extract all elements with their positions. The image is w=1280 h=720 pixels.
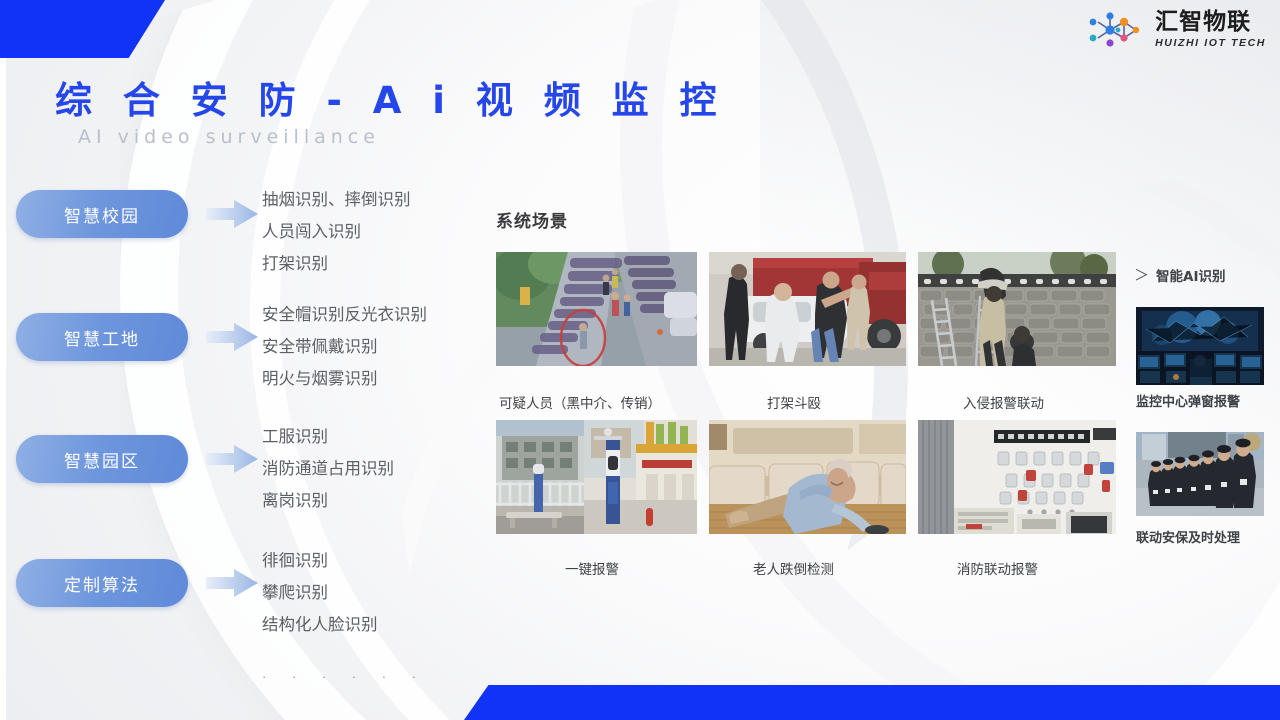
category-pill-smart-construction[interactable]: 智慧工地 (16, 313, 188, 361)
scene-caption: 入侵报警联动 (963, 392, 1044, 412)
category-item: 安全带佩戴识别 (262, 331, 427, 363)
category-item: 工服识别 (262, 421, 394, 453)
scene-caption: 一键报警 (565, 558, 619, 578)
monitoring-center-screens-photo (1136, 307, 1264, 385)
stone-wall-ladder-climb-photo (918, 252, 1116, 366)
scene-thumb-one-key-alarm[interactable] (496, 420, 697, 534)
category-pill-label: 智慧工地 (64, 325, 140, 350)
category-items-4: 徘徊识别 攀爬识别 结构化人脸识别 (262, 545, 378, 642)
page-title: 综 合 安 防 - A i 视 频 监 控 (55, 70, 726, 124)
category-items-1: 抽烟识别、摔倒识别 人员闯入识别 打架识别 (262, 184, 411, 281)
arrow-right-icon (206, 322, 258, 352)
emergency-call-post-photo (496, 420, 697, 534)
sidebar-heading-label: 智能AI识别 (1156, 265, 1225, 285)
scene-caption: 消防联动报警 (957, 558, 1038, 578)
fire-control-panel-photo (918, 420, 1116, 534)
category-items-3: 工服识别 消防通道占用识别 离岗识别 (262, 421, 394, 518)
sidebar-caption: 联动安保及时处理 (1136, 527, 1240, 546)
category-pill-smart-park[interactable]: 智慧园区 (16, 435, 188, 483)
corner-accent-top-left (0, 0, 165, 58)
chevron-right-icon: ＞ (1134, 264, 1149, 285)
scenes-section-title: 系统场景 (496, 207, 568, 232)
category-items-2: 安全帽识别反光衣识别 安全带佩戴识别 明火与烟雾识别 (262, 299, 427, 396)
sidebar-thumb-security-team[interactable] (1136, 432, 1264, 516)
scene-thumb-suspicious-person[interactable] (496, 252, 697, 366)
category-pill-label: 定制算法 (64, 571, 140, 596)
category-item: 消防通道占用识别 (262, 453, 394, 485)
bottom-accent-bar (464, 685, 1280, 720)
sidebar-caption: 监控中心弹窗报警 (1136, 391, 1240, 410)
page-subtitle: AI video surveillance (78, 126, 380, 148)
category-item: 打架识别 (262, 248, 411, 280)
street-fight-red-truck-photo (709, 252, 906, 366)
category-item: 明火与烟雾识别 (262, 363, 427, 395)
category-pill-label: 智慧园区 (64, 447, 140, 472)
street-motorbikes-crowd-photo (496, 252, 697, 366)
category-pill-smart-campus[interactable]: 智慧校园 (16, 190, 188, 238)
scene-caption: 可疑人员（黑中介、传销） (499, 392, 661, 412)
category-more-dots: · · · · · · (262, 669, 427, 684)
category-item: 攀爬识别 (262, 577, 378, 609)
left-edge-strip (0, 58, 6, 720)
sidebar-thumb-monitoring-center[interactable] (1136, 307, 1264, 385)
elderly-fall-living-room-photo (709, 420, 906, 534)
arrow-right-icon (206, 568, 258, 598)
category-item: 离岗识别 (262, 485, 394, 517)
security-guards-formation-photo (1136, 432, 1264, 516)
category-pill-custom-algorithm[interactable]: 定制算法 (16, 559, 188, 607)
scene-thumb-fight[interactable] (709, 252, 906, 366)
sidebar-heading: ＞ 智能AI识别 (1134, 264, 1226, 285)
logo-english-name: HUIZHI IOT TECH (1155, 38, 1266, 49)
arrow-right-icon (206, 444, 258, 474)
scene-caption: 老人跌倒检测 (753, 558, 834, 578)
category-item: 安全帽识别反光衣识别 (262, 299, 427, 331)
molecule-network-icon (1088, 10, 1146, 50)
category-item: 抽烟识别、摔倒识别 (262, 184, 411, 216)
scene-thumb-intrusion[interactable] (918, 252, 1116, 366)
scene-thumb-fire-alarm[interactable] (918, 420, 1116, 534)
category-item: 人员闯入识别 (262, 216, 411, 248)
scene-caption: 打架斗殴 (767, 392, 821, 412)
brand-logo: 汇智物联 HUIZHI IOT TECH (1088, 10, 1266, 50)
slide-root: 汇智物联 HUIZHI IOT TECH 综 合 安 防 - A i 视 频 监… (0, 0, 1280, 720)
category-item: 徘徊识别 (262, 545, 378, 577)
logo-chinese-name: 汇智物联 (1155, 11, 1266, 34)
arrow-right-icon (206, 199, 258, 229)
scene-thumb-elderly-fall[interactable] (709, 420, 906, 534)
category-item: 结构化人脸识别 (262, 609, 378, 641)
category-pill-label: 智慧校园 (64, 202, 140, 227)
